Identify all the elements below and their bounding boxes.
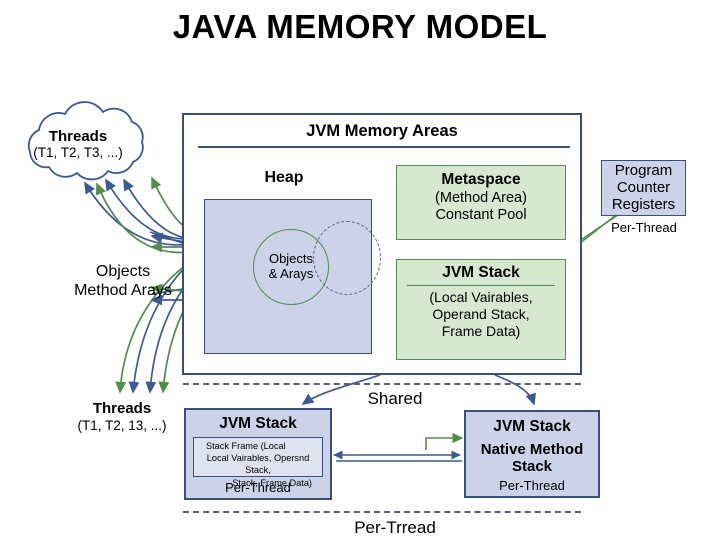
shared-label: Shared: [335, 389, 455, 409]
threads-bottom-title: Threads: [52, 400, 192, 418]
stack-frame-line1: Stack Frame (Local: [194, 440, 322, 452]
shared-divider-line: [183, 383, 581, 385]
jvm-stack-title: JVM Stack: [397, 264, 565, 282]
heap-region: Objects & Arays: [204, 199, 372, 354]
objects-label-line2: Method Arays: [58, 281, 188, 300]
jvm-stack-box: JVM Stack (Local Vairables, Operand Stac…: [396, 259, 566, 360]
stack-frame-inner-box: Stack Frame (Local Local Vairables, Oper…: [193, 437, 323, 477]
native-method-stack-line2: Stack: [466, 459, 598, 476]
bottom-right-jvm-stack-box: JVM Stack Native Method Stack Per-Thread: [464, 410, 600, 498]
threads-cloud-top-sub: (T1, T2, T3, ...): [8, 145, 148, 161]
heap-circle-line2: & Arays: [269, 267, 314, 282]
jvm-stack-line2: Operand Stack,: [397, 306, 565, 323]
jvm-stack-line1: (Local Vairables,: [397, 289, 565, 306]
per-thread-divider-line: [183, 511, 581, 513]
objects-label-line1: Objects: [58, 262, 188, 281]
native-method-stack-line1: Native Method: [466, 442, 598, 459]
stack-frame-line2: Local Vairables, Opersnd Stack,: [194, 452, 322, 476]
objects-and-arrays-circle: Objects & Arays: [253, 229, 329, 305]
jvm-stack-line3: Frame Data): [397, 323, 565, 340]
program-counter-line1: Program: [602, 163, 685, 180]
threads-label-bottom: Threads (T1, T2, 13, ...): [52, 400, 192, 434]
program-counter-line3: Registers: [602, 197, 685, 214]
page-title: JAVA MEMORY MODEL: [0, 8, 720, 46]
jvm-memory-areas-title: JVM Memory Areas: [184, 122, 580, 141]
jvm-stack-divider: [407, 285, 555, 286]
objects-method-arrays-label: Objects Method Arays: [58, 262, 188, 300]
bottom-left-jvm-stack-box: JVM Stack Stack Frame (Local Local Vaira…: [184, 408, 332, 500]
metaspace-box: Metaspace (Method Area) Constant Pool: [396, 165, 566, 240]
threads-cloud-top-title: Threads: [8, 128, 148, 145]
threads-cloud-top: Threads (T1, T2, T3, ...): [8, 116, 148, 178]
metaspace-title: Metaspace: [397, 171, 565, 190]
threads-bottom-sub: (T1, T2, 13, ...): [52, 418, 192, 434]
heap-circle-line1: Objects: [269, 252, 313, 267]
bottom-right-title: JVM Stack: [466, 418, 598, 436]
program-counter-per-thread-label: Per-Thread: [594, 220, 694, 235]
heap-label: Heap: [224, 169, 344, 187]
metaspace-line1: (Method Area): [397, 190, 565, 207]
bottom-left-title: JVM Stack: [186, 415, 330, 433]
metaspace-line2: Constant Pool: [397, 207, 565, 224]
jvm-title-divider: [198, 146, 570, 148]
program-counter-line2: Counter: [602, 180, 685, 197]
program-counter-registers-box: Program Counter Registers: [601, 160, 686, 216]
jvm-memory-areas-container: JVM Memory Areas Heap Objects & Arays Me…: [182, 113, 582, 375]
bottom-right-per-thread: Per-Thread: [466, 478, 598, 493]
per-thread-label: Per-Trread: [320, 518, 470, 538]
